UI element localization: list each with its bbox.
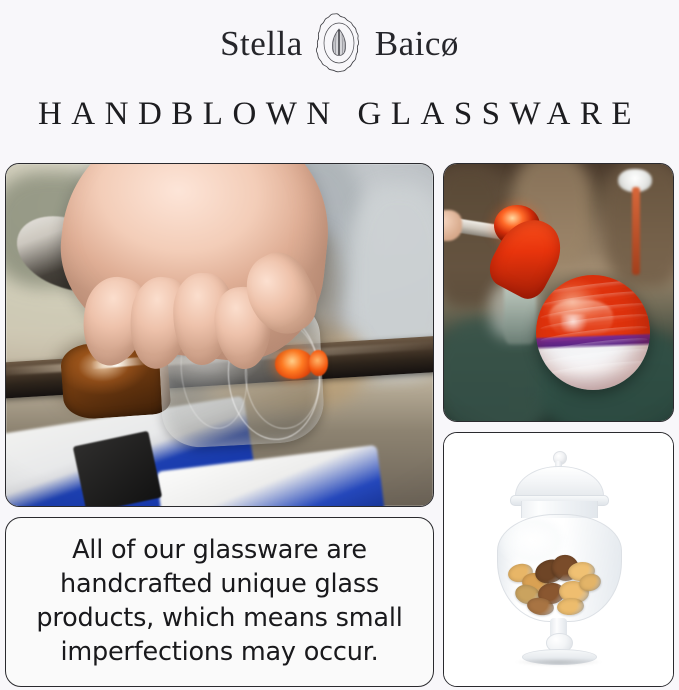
photo-vignette — [6, 164, 433, 506]
brand-name-left: Stella — [220, 26, 303, 61]
apothecary-jar — [444, 433, 673, 686]
scalloped-shell-emblem-icon — [311, 13, 367, 73]
photo-vignette — [444, 164, 673, 421]
disclaimer-text: All of our glassware are handcrafted uni… — [6, 534, 433, 670]
brand-logo: Stella Baicø — [0, 12, 679, 74]
glassblower-shaping-glass-photo — [5, 163, 434, 507]
butter-cookie-item — [556, 597, 585, 616]
disclaimer-card: All of our glassware are handcrafted uni… — [5, 517, 434, 687]
jar-body — [497, 514, 623, 622]
jar-shadow — [515, 658, 602, 666]
red-ribbed-glass-sphere-photo — [443, 163, 674, 422]
glass-apothecary-jar-photo — [443, 432, 674, 687]
page-title: HANDBLOWN GLASSWARE — [0, 96, 679, 133]
product-infographic: Stella Baicø HANDBLOWN GLASSWARE — [0, 0, 679, 690]
brand-name-right: Baicø — [375, 26, 459, 61]
